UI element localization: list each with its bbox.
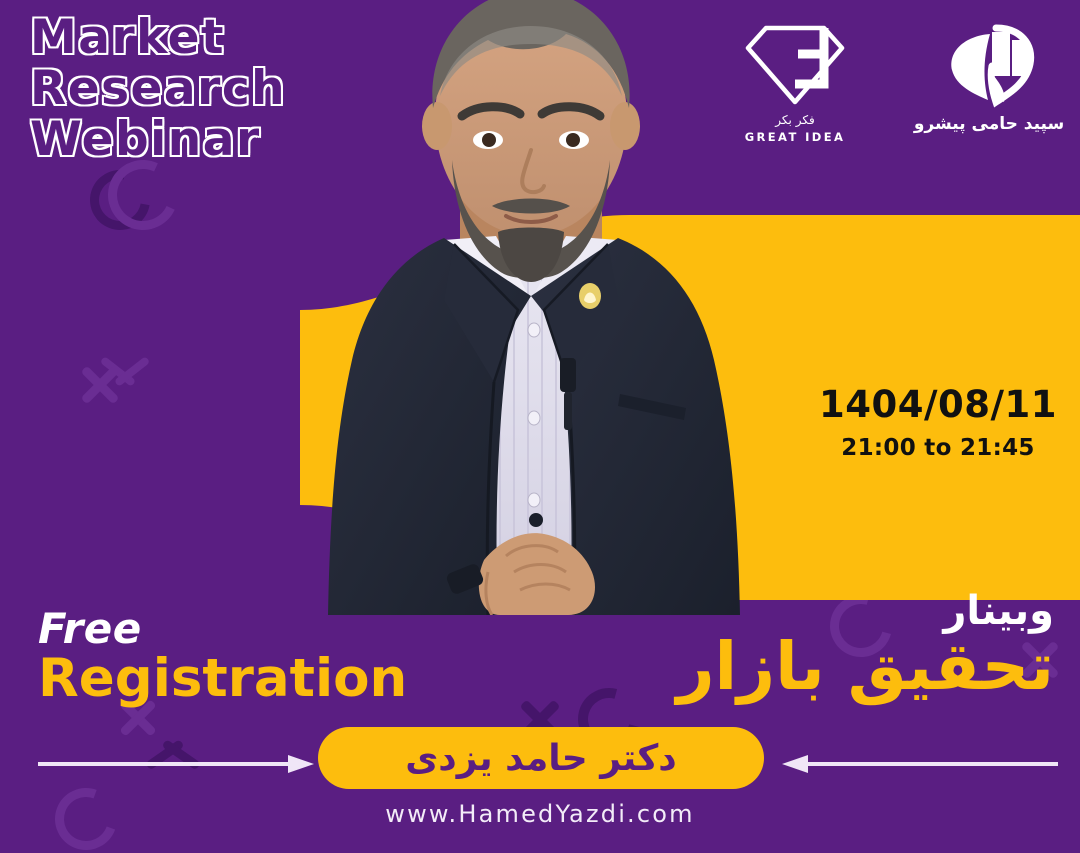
chevron-decoration-top-left [105, 372, 165, 402]
logo-great-idea-en: GREAT IDEA [745, 130, 846, 144]
schedule-block: 1404/08/11 21:00 to 21:45 [810, 383, 1066, 461]
headline-line-1: Market [30, 12, 450, 63]
persian-subject: تحقیق بازار [677, 630, 1054, 704]
arrow-pointing-right [38, 753, 316, 775]
arrow-pointing-left [782, 753, 1052, 775]
event-time: 21:00 to 21:45 [810, 435, 1066, 461]
chevron-decoration-left [95, 360, 155, 394]
arrow-right-shaft [806, 762, 1058, 766]
webinar-poster: Market Research Webinar فکر بکر GREAT ID… [0, 0, 1080, 853]
headline-line-2: Research [30, 63, 450, 114]
logo-great-idea: فکر بکر GREAT IDEA [730, 22, 860, 144]
arc-decoration-top-left [78, 158, 162, 242]
event-date: 1404/08/11 [810, 383, 1066, 427]
x-decoration-left [70, 355, 130, 415]
speaker-name-pill[interactable]: دکتر حامد یزدی [318, 727, 764, 789]
logo-sepid-hami-pishro: سپید حامی پیشرو [924, 22, 1054, 134]
page-title: Market Research Webinar [30, 12, 450, 165]
registration-block: Free Registration [38, 606, 407, 708]
arrow-right-head [782, 755, 808, 773]
persian-title-block: وبینار تحقیق بازار [677, 588, 1054, 704]
logo-great-idea-fa: فکر بکر [775, 113, 814, 127]
sepid-hami-pishro-icon [934, 22, 1044, 108]
website-block: www.HamedYazdi.com [0, 800, 1080, 828]
free-label: Free [38, 606, 407, 652]
headline-line-3: Webinar [30, 114, 450, 165]
speaker-name: دکتر حامد یزدی [405, 738, 677, 779]
diamond-g-icon [740, 22, 850, 108]
arrow-left-shaft [38, 762, 290, 766]
registration-label: Registration [38, 650, 407, 708]
website-url[interactable]: www.HamedYazdi.com [385, 800, 695, 828]
arrow-left-head [288, 755, 314, 773]
logo-sepid-hami-pishro-fa: سپید حامی پیشرو [914, 114, 1064, 134]
logo-group: فکر بکر GREAT IDEA سپید حامی پیشرو [730, 22, 1054, 144]
